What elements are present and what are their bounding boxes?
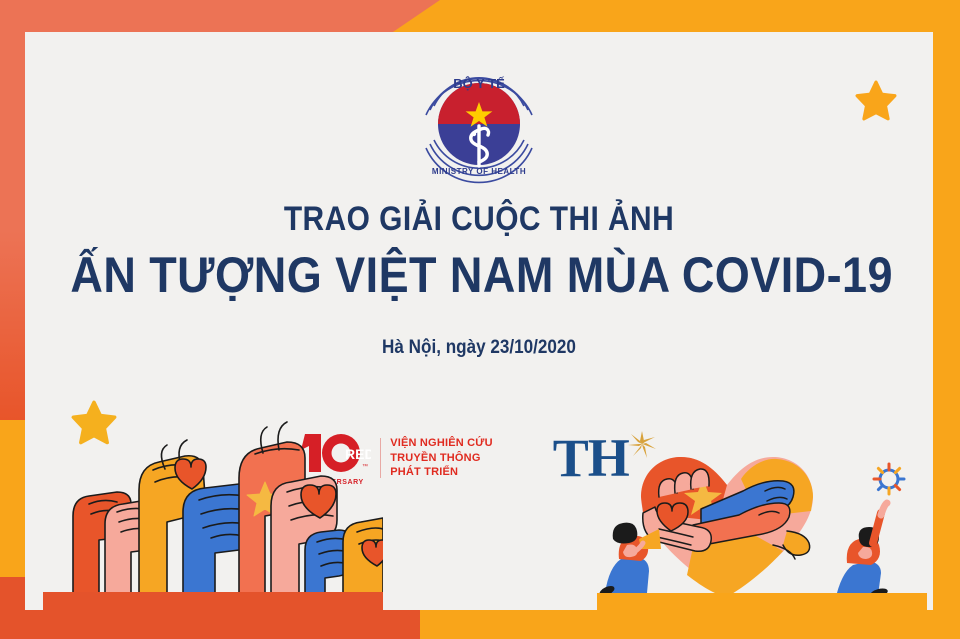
emblem-top-text: BỘ Y TẾ <box>453 76 505 91</box>
event-date: Hà Nội, ngày 23/10/2020 <box>70 337 887 359</box>
event-subtitle: TRAO GIẢI CUỘC THI ẢNH <box>79 200 878 239</box>
emblem-bottom-text: MINISTRY OF HEALTH <box>432 167 526 176</box>
star-top-right-icon <box>855 80 897 122</box>
ground-right <box>597 593 927 610</box>
ground-left <box>43 592 383 610</box>
woman-hair <box>613 523 638 544</box>
poster-card: BỘ Y TẾ MINISTRY OF HEALTH TRAO GIẢI CUỘ… <box>25 32 933 610</box>
virus-icon <box>874 464 904 494</box>
event-title: ẤN TƯỢNG VIỆT NAM MÙA COVID-19 <box>70 245 887 305</box>
background-salmon-top <box>0 0 440 34</box>
title-block: TRAO GIẢI CUỘC THI ẢNH ẤN TƯỢNG VIỆT NAM… <box>25 200 933 359</box>
poster-root: BỘ Y TẾ MINISTRY OF HEALTH TRAO GIẢI CUỘ… <box>0 0 960 639</box>
heart-of-hands-illustration <box>597 435 927 610</box>
ministry-of-health-emblem: BỘ Y TẾ MINISTRY OF HEALTH <box>414 54 544 184</box>
red-institute-line-3: PHÁT TRIỂN <box>390 465 493 480</box>
red-institute-line-1: VIỆN NGHIÊN CỨU <box>390 436 493 451</box>
red-institute-line-2: TRUYỀN THÔNG <box>390 451 493 466</box>
man-reaching <box>827 503 889 608</box>
red-institute-name: VIỆN NGHIÊN CỨU TRUYỀN THÔNG PHÁT TRIỂN <box>390 436 493 481</box>
raised-hands-illustration <box>43 420 383 610</box>
